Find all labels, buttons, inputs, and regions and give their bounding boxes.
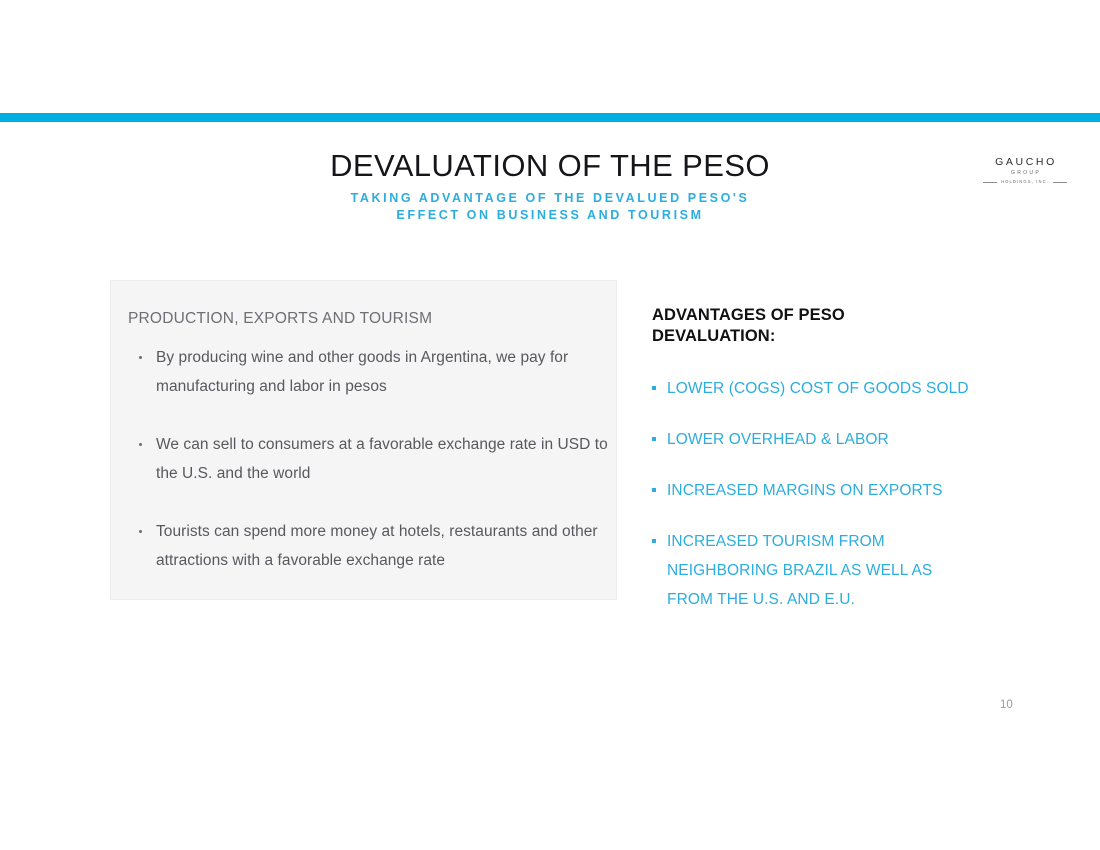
list-item: Tourists can spend more money at hotels,… [133, 517, 613, 575]
page-subtitle-line-2: EFFECT ON BUSINESS AND TOURISM [396, 208, 703, 222]
right-panel-heading: ADVANTAGES OF PESO DEVALUATION: [652, 305, 867, 347]
bullet-square-icon [652, 488, 656, 492]
top-accent-band [0, 113, 1100, 122]
list-item-text: Tourists can spend more money at hotels,… [156, 523, 598, 569]
gaucho-group-holdings-logo: GAUCHO GROUP HOLDINGS, INC. [981, 153, 1069, 189]
bullet-square-icon [652, 386, 656, 390]
list-item: INCREASED MARGINS ON EXPORTS [652, 476, 1012, 505]
logo-subword: GROUP [1009, 170, 1041, 177]
bullet-dot-icon [139, 530, 142, 533]
page-subtitle: TAKING ADVANTAGE OF THE DEVALUED PESO'S … [150, 190, 950, 223]
page-title: DEVALUATION OF THE PESO [0, 146, 1100, 186]
logo-rule-right-icon [1053, 182, 1067, 183]
list-item: We can sell to consumers at a favorable … [133, 430, 613, 488]
left-panel-bullet-list: By producing wine and other goods in Arg… [133, 343, 613, 604]
slide-header: DEVALUATION OF THE PESO TAKING ADVANTAGE… [0, 146, 1100, 236]
list-item: INCREASED TOURISM FROM NEIGHBORING BRAZI… [652, 527, 972, 614]
logo-rule-row: HOLDINGS, INC. [983, 179, 1067, 185]
logo-rule-left-icon [983, 182, 997, 183]
list-item: LOWER OVERHEAD & LABOR [652, 425, 1012, 454]
list-item: By producing wine and other goods in Arg… [133, 343, 613, 401]
bullet-dot-icon [139, 356, 142, 359]
list-item-text: INCREASED TOURISM FROM NEIGHBORING BRAZI… [667, 533, 932, 608]
page-subtitle-line-1: TAKING ADVANTAGE OF THE DEVALUED PESO'S [351, 191, 750, 205]
left-panel-heading: PRODUCTION, EXPORTS AND TOURISM [128, 309, 432, 329]
bullet-square-icon [652, 437, 656, 441]
list-item-text: LOWER OVERHEAD & LABOR [667, 431, 889, 448]
production-exports-tourism-panel: PRODUCTION, EXPORTS AND TOURISM By produ… [110, 280, 617, 600]
list-item: LOWER (COGS) COST OF GOODS SOLD [652, 374, 1012, 403]
bullet-square-icon [652, 539, 656, 543]
advantages-panel: ADVANTAGES OF PESO DEVALUATION: LOWER (C… [652, 305, 1012, 636]
list-item-text: We can sell to consumers at a favorable … [156, 436, 608, 482]
logo-fineprint: HOLDINGS, INC. [1001, 179, 1049, 185]
bullet-dot-icon [139, 443, 142, 446]
slide-canvas: DEVALUATION OF THE PESO TAKING ADVANTAGE… [0, 0, 1100, 850]
page-number: 10 [1000, 697, 1013, 713]
list-item-text: INCREASED MARGINS ON EXPORTS [667, 482, 943, 499]
list-item-text: LOWER (COGS) COST OF GOODS SOLD [667, 380, 969, 397]
list-item-text: By producing wine and other goods in Arg… [156, 349, 568, 395]
right-panel-bullet-list: LOWER (COGS) COST OF GOODS SOLD LOWER OV… [652, 374, 1012, 614]
logo-wordmark: GAUCHO [993, 157, 1057, 168]
